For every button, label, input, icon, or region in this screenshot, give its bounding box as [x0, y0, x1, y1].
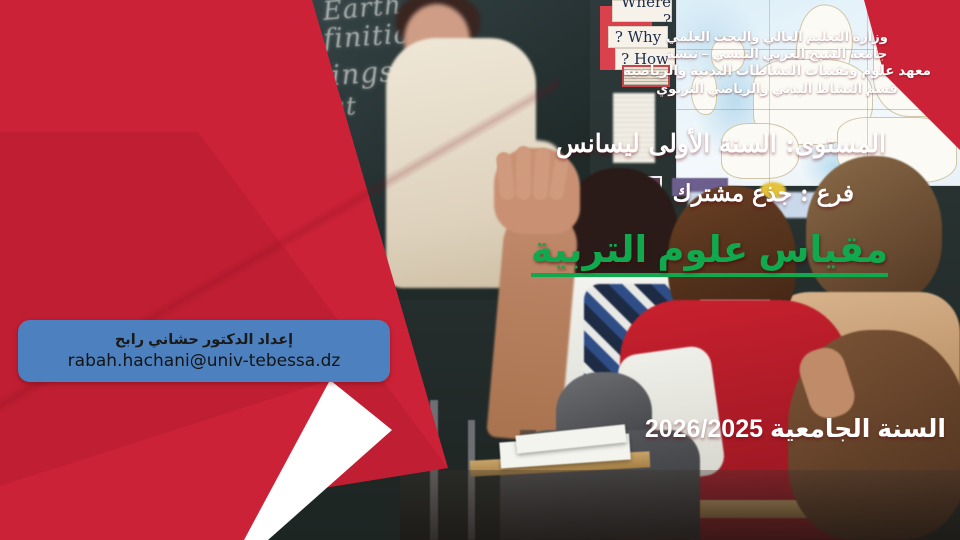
author-box: إعداد الدكتور حشاني رابح rabah.hachani@u…	[18, 320, 390, 382]
institution-header: وزارة التعليم العالي والبحث العلمي جامعة…	[612, 28, 942, 97]
academic-year: السنة الجامعية 2026/2025	[645, 414, 946, 444]
prepared-by-label: إعداد الدكتور حشاني رابح	[115, 332, 293, 348]
cover-slide: the Earth definition things at Where ? W…	[0, 0, 960, 540]
author-email-link[interactable]: rabah.hachani@univ-tebessa.dz	[68, 351, 341, 371]
course-title: مقياس علوم التربية	[531, 228, 888, 277]
map-fold-line	[677, 109, 960, 110]
ministry-line: وزارة التعليم العالي والبحث العلمي	[612, 28, 942, 45]
department-line: قسم النشاط البدني والرياضي التربوي	[612, 80, 942, 97]
institute-line: معهد علوم وتقنيات النشاطات البدنية والري…	[612, 62, 942, 80]
academic-year-value: 2026/2025	[645, 415, 763, 443]
branch-label: فرع : جذع مشترك	[673, 180, 854, 207]
academic-year-label: السنة الجامعية	[770, 415, 946, 443]
poster-question-where: Where ?	[612, 0, 672, 22]
university-line: جامعة الشيخ العربي التبسي – تبسة	[612, 45, 942, 62]
level-label: المستوى: السنة الأولى ليسانس	[556, 129, 886, 158]
